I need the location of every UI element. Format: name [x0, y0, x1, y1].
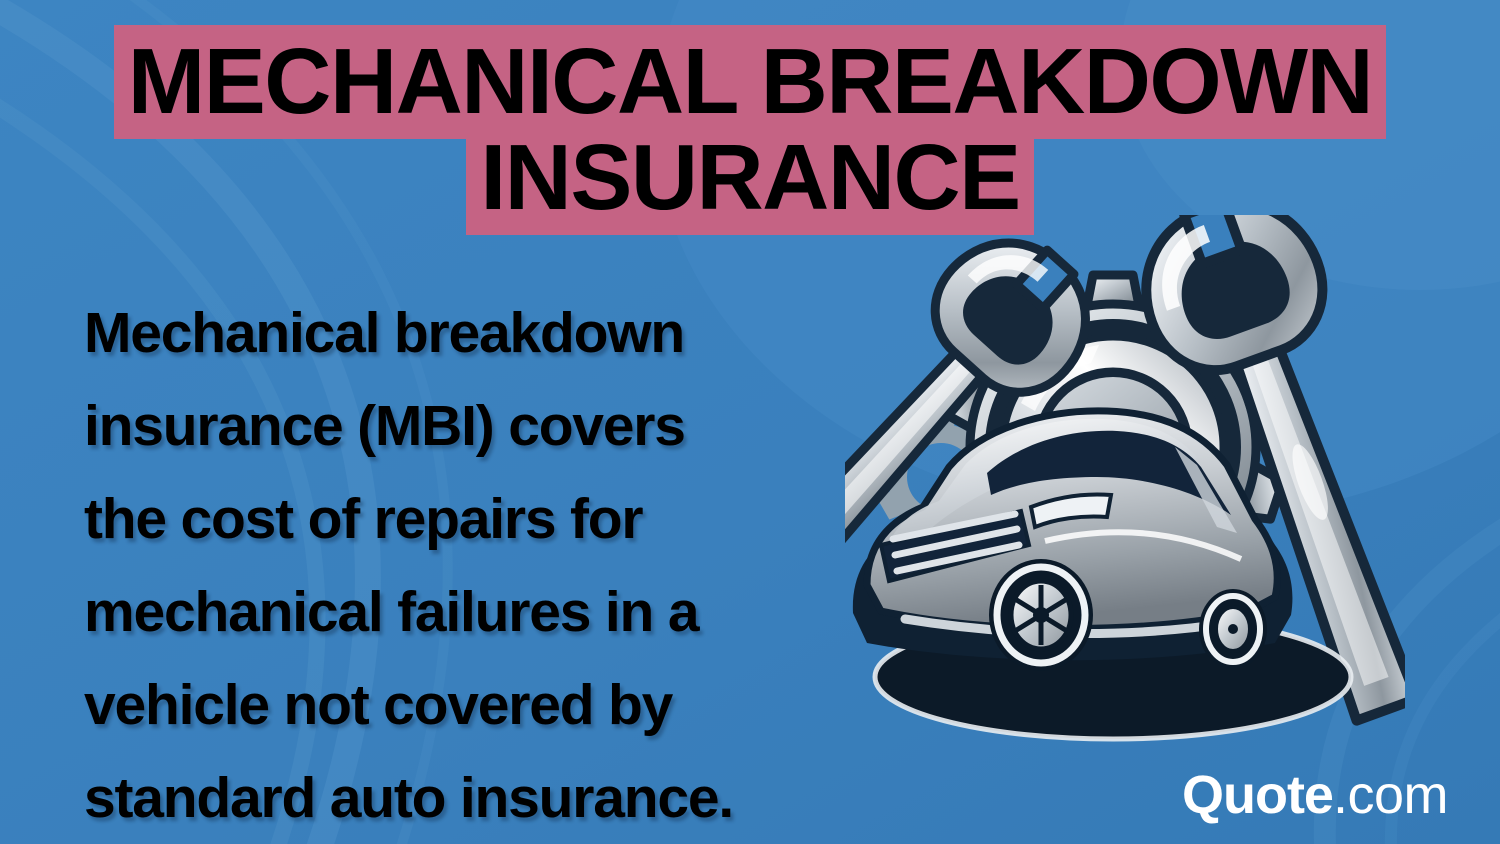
body-line: vehicle not covered by [84, 659, 844, 752]
rear-wheel [1199, 589, 1267, 669]
body-line: the cost of repairs for [84, 473, 844, 566]
body-line: mechanical failures in a [84, 566, 844, 659]
logo-tld: .com [1333, 765, 1448, 825]
car-wrenches-gears-illustration [845, 215, 1405, 785]
title-line-2: INSURANCE [0, 126, 1500, 228]
poster-title: MECHANICAL BREAKDOWN INSURANCE [0, 30, 1500, 228]
infographic-poster: MECHANICAL BREAKDOWN INSURANCE Mechanica… [0, 0, 1500, 844]
body-line: insurance (MBI) covers [84, 380, 844, 473]
body-copy: Mechanical breakdown insurance (MBI) cov… [84, 287, 844, 844]
logo-wordmark: Quote [1182, 765, 1333, 825]
title-line-1: MECHANICAL BREAKDOWN [0, 30, 1500, 132]
body-line: standard auto insurance. [84, 752, 844, 844]
front-wheel [989, 559, 1093, 671]
body-line: Mechanical breakdown [84, 287, 844, 380]
quote-com-logo[interactable]: Quote.com [1182, 768, 1448, 822]
title-line-2-text: INSURANCE [466, 121, 1033, 235]
